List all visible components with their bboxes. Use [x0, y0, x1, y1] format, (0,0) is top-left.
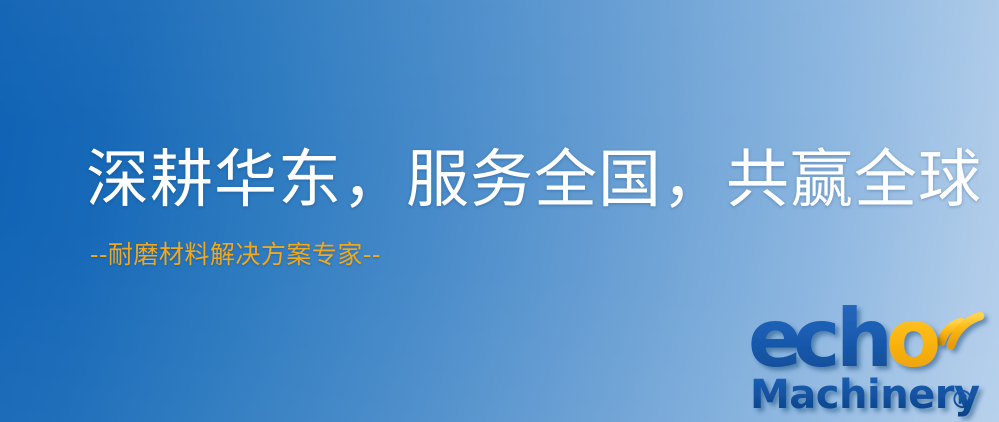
- hero-banner: 深耕华东，服务全国，共赢全球 --耐磨材料解决方案专家--: [0, 0, 999, 422]
- page-subtitle: --耐磨材料解决方案专家--: [86, 240, 982, 270]
- logo-artwork: e c h o Machinery ®: [748, 296, 994, 422]
- trademark-symbol: ®: [950, 385, 975, 414]
- headline-block: 深耕华东，服务全国，共赢全球 --耐磨材料解决方案专家--: [86, 146, 982, 270]
- signal-waves-icon: [941, 316, 980, 345]
- logo-tagline: Machinery: [750, 372, 980, 418]
- company-logo[interactable]: e c h o Machinery ®: [748, 296, 994, 422]
- page-title: 深耕华东，服务全国，共赢全球: [86, 146, 982, 214]
